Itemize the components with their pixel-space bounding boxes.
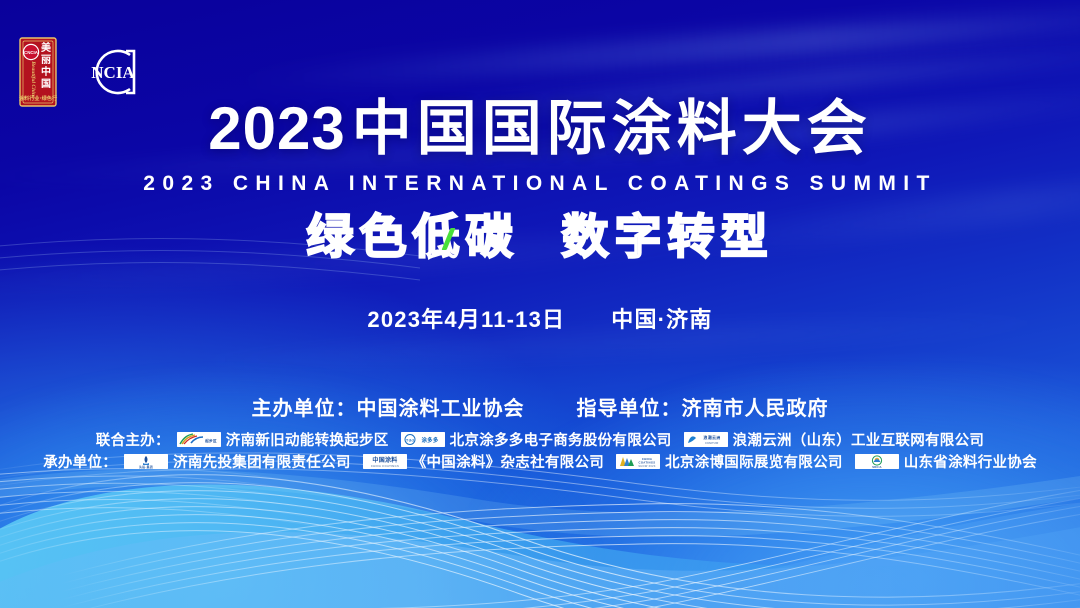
- svg-text:涂多多: 涂多多: [421, 436, 438, 444]
- svg-text:NCIA: NCIA: [91, 63, 135, 82]
- partner-rows: 联合主办： 起步区 济南新旧动能转换起步区: [0, 430, 1080, 471]
- partner-row: 联合主办： 起步区 济南新旧动能转换起步区: [96, 430, 984, 449]
- partner-name: 济南新旧动能转换起步区: [226, 429, 389, 450]
- slogan-spacer: [518, 210, 561, 263]
- slogan-left: 绿色低碳: [306, 210, 518, 263]
- svg-text:先投·集团: 先投·集团: [139, 465, 153, 469]
- partner-item: SDCIA 山东省涂料行业协会: [855, 451, 1037, 472]
- svg-text:CHINA COATINGS: CHINA COATINGS: [371, 464, 399, 468]
- svg-text:起步区: 起步区: [204, 438, 217, 443]
- partner-row-label: 承办单位：: [43, 451, 117, 472]
- langchao-yunzhou-logo: 浪潮云洲 INSPUR: [684, 432, 728, 447]
- event-location: 中国·济南: [611, 307, 712, 332]
- svg-text:INSPUR: INSPUR: [705, 441, 719, 445]
- host-organizer: 主办单位：中国涂料工业协会: [252, 398, 525, 420]
- guidance-unit: 指导单位：济南市人民政府: [577, 398, 829, 420]
- title-main: 中国国际涂料大会: [352, 95, 872, 162]
- partner-name: 浪潮云洲（山东）工业互联网有限公司: [733, 429, 985, 450]
- svg-text:COATINGS: COATINGS: [639, 461, 656, 465]
- slogan-right: 数字转型: [562, 210, 774, 263]
- xiantou-group-logo: 先投·集团: [124, 454, 168, 469]
- partner-row-label: 联合主办：: [96, 429, 170, 450]
- svg-text:CNCIA: CNCIA: [24, 50, 39, 55]
- svg-text:中国涂料: 中国涂料: [372, 456, 397, 464]
- poster-content: CNCIA 美 丽 中 国 Beautiful China 涂料行业·绿色行 N…: [0, 0, 1080, 608]
- svg-text:丽: 丽: [41, 54, 51, 66]
- svg-text:SDCIA: SDCIA: [872, 465, 882, 469]
- partner-row: 承办单位： 先投·集团 济南先投集团有限责任公司: [43, 452, 1037, 471]
- partner-item: 浪潮云洲 INSPUR 浪潮云洲（山东）工业互联网有限公司: [684, 429, 985, 450]
- svg-text:SHOW 2023: SHOW 2023: [638, 464, 656, 468]
- svg-text:美: 美: [41, 41, 52, 54]
- event-date: 2023年4月11-13日: [367, 307, 565, 332]
- partner-name: 北京涂多多电子商务股份有限公司: [450, 429, 672, 450]
- svg-text:中: 中: [41, 65, 51, 78]
- shandong-coatings-assoc-logo: SDCIA: [855, 454, 899, 469]
- china-coatings-magazine-logo: 中国涂料 CHINA COATINGS: [363, 454, 407, 469]
- partner-name: 山东省涂料行业协会: [904, 451, 1037, 472]
- svg-text:浪潮云洲: 浪潮云洲: [703, 434, 720, 440]
- title-year: 2023: [208, 95, 345, 162]
- partner-name: 北京涂博国际展览有限公司: [665, 451, 843, 472]
- slogan: 绿色低碳 数字转型: [0, 206, 1080, 267]
- partner-item: 中国涂料 CHINA COATINGS 《中国涂料》杂志社有限公司: [363, 451, 604, 472]
- partner-name: 《中国涂料》杂志社有限公司: [412, 451, 604, 472]
- tubo-expo-logo: CHINA COATINGS SHOW 2023: [616, 454, 660, 469]
- svg-text:Beautiful China: Beautiful China: [30, 60, 36, 99]
- ncia-logo: NCIA: [82, 43, 144, 101]
- title-english: 2023 CHINA INTERNATIONAL COATINGS SUMMIT: [0, 172, 1080, 196]
- date-location-line: 2023年4月11-13日中国·济南: [0, 302, 1080, 334]
- partner-name: 济南先投集团有限责任公司: [173, 451, 351, 472]
- page-title: 2023中国国际涂料大会: [0, 98, 1080, 159]
- conference-poster: CNCIA 美 丽 中 国 Beautiful China 涂料行业·绿色行 N…: [0, 0, 1080, 608]
- svg-text:国: 国: [41, 78, 51, 90]
- partner-item: 先投·集团 济南先投集团有限责任公司: [124, 451, 351, 472]
- partner-item: CHINA COATINGS SHOW 2023 北京涂博国际展览有限公司: [616, 451, 843, 472]
- svg-text:Tdd: Tdd: [405, 437, 413, 442]
- tuoduoduo-logo: Tdd 涂多多: [401, 432, 445, 447]
- host-line: 主办单位：中国涂料工业协会指导单位：济南市人民政府: [0, 392, 1080, 421]
- partner-item: 起步区 济南新旧动能转换起步区: [177, 429, 389, 450]
- qibuqu-logo: 起步区: [177, 432, 221, 447]
- partner-item: Tdd 涂多多 北京涂多多电子商务股份有限公司: [401, 429, 672, 450]
